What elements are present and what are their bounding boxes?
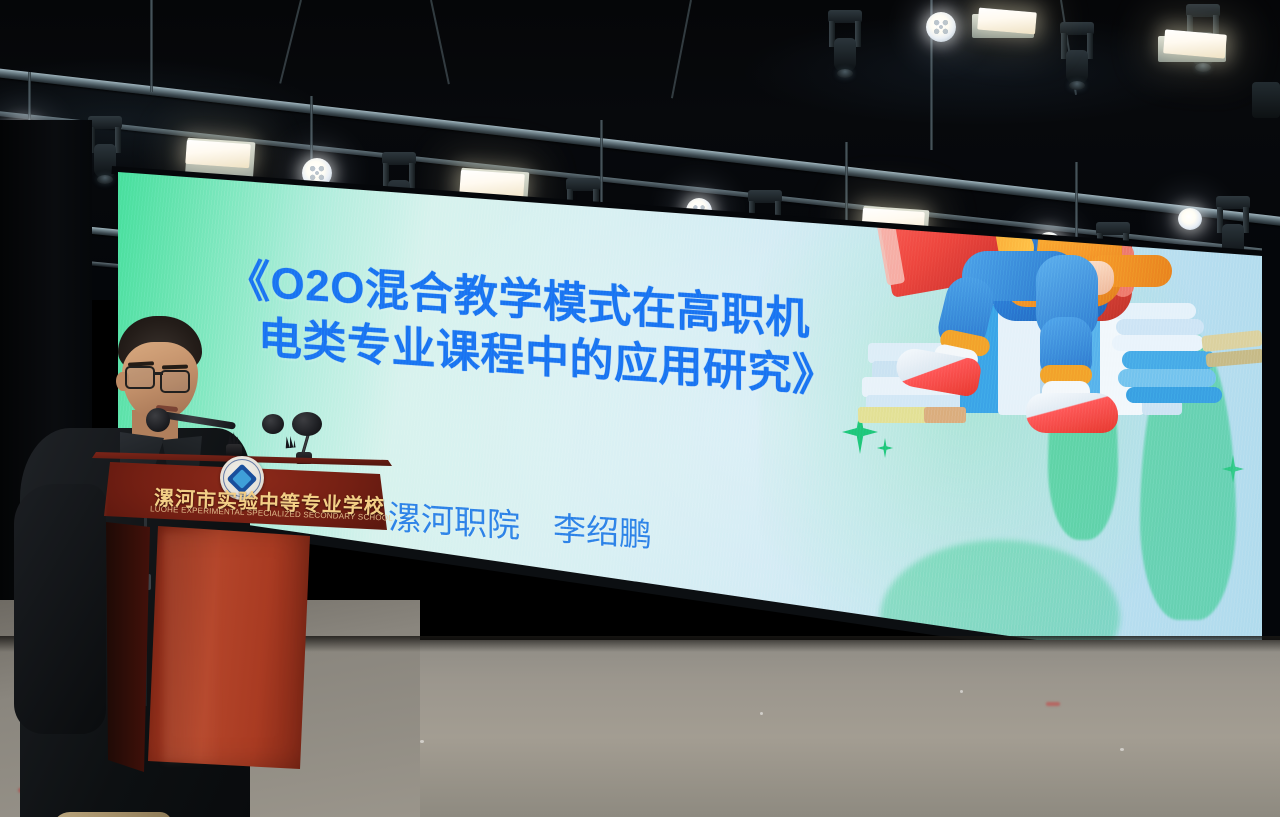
glasses-lens-right [160,370,190,393]
gooseneck-microphone-head [292,412,322,436]
led-panel-light [185,140,251,168]
stage-right-wall [1262,240,1280,690]
round-led-fixture [926,12,956,42]
podium-side-panel [106,522,150,772]
podium-column-sheen [164,532,218,762]
gooseneck-microphone-head [262,414,284,434]
podium: 漯河市实验中等专业学校 LUOHE EXPERIMENTAL SPECIALIZ… [92,452,392,817]
floor-speck [960,690,963,693]
glasses-bridge [153,372,163,375]
floor-marking [1046,702,1060,706]
glasses-lens-left [125,366,155,389]
floor-speck [760,712,763,715]
round-led-fixture [1178,208,1202,230]
truss-drop-pipe [150,0,153,92]
stage-photo: 《O2O混合教学模式在高职机 电类专业课程中的应用研究》 漯河职院 李绍鹏 20… [0,0,1280,817]
par-can-fixture [1252,82,1280,118]
floor-speck [1120,748,1124,751]
boom-microphone-head [146,408,170,432]
floor-speck [420,740,424,743]
